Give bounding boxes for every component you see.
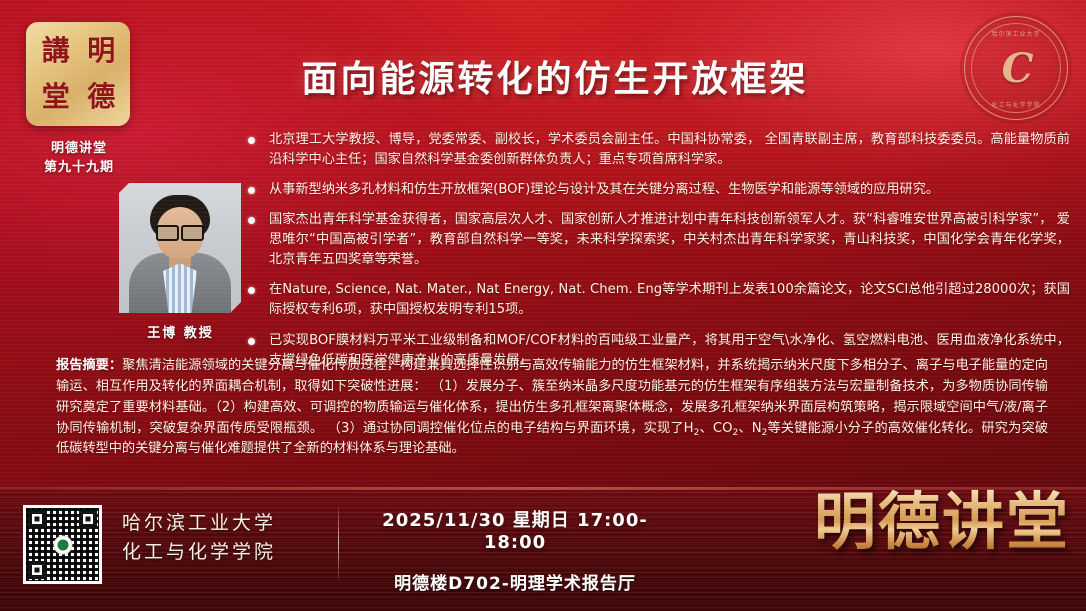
bio-item-text: 国家杰出青年科学基金获得者，国家高层次人才、国家创新人才推进计划中青年科技创新领…	[269, 210, 1070, 270]
bio-item-text: 从事新型纳米多孔材料和仿生开放框架(BOF)理论与设计及其在关键分离过程、生物医…	[269, 180, 1070, 200]
event-datetime: 2025/11/30 星期日 17:00-18:00	[360, 506, 670, 553]
bio-item-text: 在Nature, Science, Nat. Mater., Nat Energ…	[269, 280, 1070, 320]
glasses-icon	[156, 225, 204, 237]
speaker-bio-list: 北京理工大学教授、博导，党委常委、副校长，学术委员会副主任。中国科协常委， 全国…	[248, 130, 1070, 381]
mingde-seal-logo: 講 明 堂 德	[26, 22, 130, 126]
seal-char-4: 德	[79, 75, 124, 120]
qr-center-logo	[53, 535, 72, 554]
university-line-1: 哈尔滨工业大学	[122, 509, 276, 538]
bio-item: 在Nature, Science, Nat. Mater., Nat Energ…	[248, 280, 1070, 320]
bullet-dot-icon	[248, 187, 255, 194]
qr-code[interactable]	[23, 505, 102, 584]
bio-item: 国家杰出青年科学基金获得者，国家高层次人才、国家创新人才推进计划中青年科技创新领…	[248, 210, 1070, 270]
photo-shirt-shape	[163, 263, 197, 313]
qr-finder-top-right	[79, 510, 97, 528]
university-line-2: 化工与化学学院	[122, 538, 276, 567]
seal-char-1: 講	[33, 29, 78, 74]
university-emblem-logo: 哈尔滨工业大学 C 化工与化学学院	[960, 12, 1072, 124]
bio-item: 从事新型纳米多孔材料和仿生开放框架(BOF)理论与设计及其在关键分离过程、生物医…	[248, 180, 1070, 200]
qr-finder-top-left	[28, 510, 46, 528]
series-wordmark: 明德讲堂	[814, 489, 1070, 554]
seal-char-2: 明	[79, 29, 124, 74]
abstract-subscript-3: 2	[762, 428, 768, 438]
university-name: 哈尔滨工业大学 化工与化学学院	[122, 509, 276, 566]
series-name: 明德讲堂	[0, 140, 158, 159]
abstract-subscript-1: 2	[694, 428, 700, 438]
bullet-dot-icon	[248, 287, 255, 294]
bullet-dot-icon	[248, 338, 255, 345]
abstract-block: 报告摘要：聚焦清洁能源领域的关键分离与催化传质过程，构建兼具选择性识别与高效传输…	[56, 356, 1048, 460]
lecture-poster: 講 明 堂 德 明德讲堂 第九十九期 王博 教授 哈尔滨工业大学 C 化工与化学…	[0, 0, 1086, 611]
speaker-name: 王博 教授	[98, 322, 263, 341]
qr-finder-bottom-left	[28, 561, 46, 579]
bullet-dot-icon	[248, 217, 255, 224]
speaker-photo	[119, 183, 241, 313]
speaker-photo-image	[119, 183, 241, 313]
abstract-text-mid1: 、CO	[699, 421, 732, 436]
qr-code-pattern	[26, 508, 99, 581]
bio-item-text: 北京理工大学教授、博导，党委常委、副校长，学术委员会副主任。中国科协常委， 全国…	[269, 130, 1070, 170]
emblem-bottom-text: 化工与化学学院	[960, 100, 1072, 109]
bullet-dot-icon	[248, 137, 255, 144]
seal-glyph-grid: 講 明 堂 德	[33, 29, 123, 119]
event-info: 2025/11/30 星期日 17:00-18:00 明德楼D702-明理学术报…	[360, 506, 670, 594]
bio-item: 北京理工大学教授、博导，党委常委、副校长，学术委员会副主任。中国科协常委， 全国…	[248, 130, 1070, 170]
seal-char-3: 堂	[33, 75, 78, 120]
series-caption: 明德讲堂 第九十九期	[0, 140, 158, 178]
series-issue: 第九十九期	[0, 159, 158, 178]
vertical-divider	[338, 505, 339, 581]
abstract-subscript-2: 2	[732, 428, 738, 438]
event-venue: 明德楼D702-明理学术报告厅	[360, 569, 670, 594]
abstract-label: 报告摘要：	[56, 358, 122, 373]
abstract-text-mid2: 、N	[738, 421, 761, 436]
poster-title: 面向能源转化的仿生开放框架	[175, 50, 935, 102]
seal-inner: 講 明 堂 德	[33, 29, 123, 119]
